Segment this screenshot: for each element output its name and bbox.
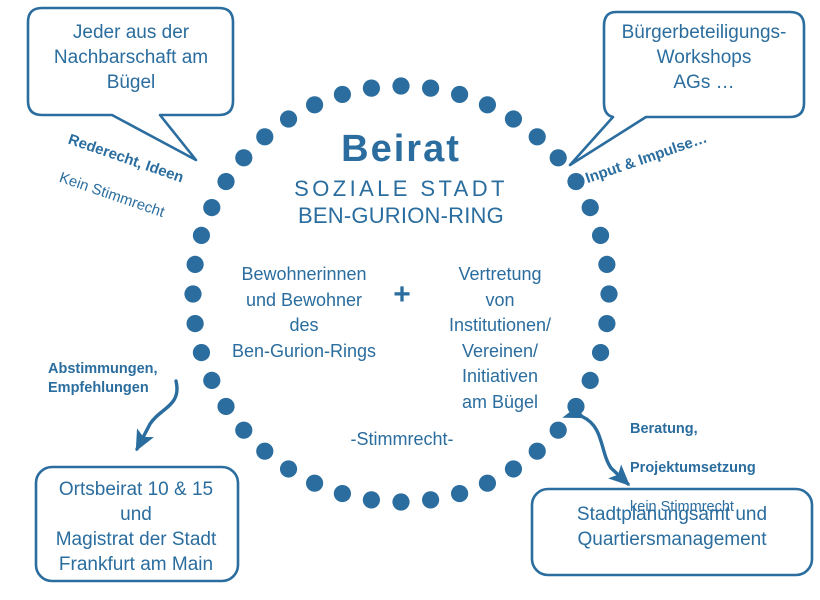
ring-dot [256, 443, 273, 460]
ring-dot [479, 96, 496, 113]
ring-dot [550, 149, 567, 166]
ring-dot [600, 285, 617, 302]
ring-dot [363, 80, 380, 97]
ring-dot [280, 460, 297, 477]
ring-dot [217, 398, 234, 415]
ring-dot [392, 493, 409, 510]
ring-dot [184, 285, 201, 302]
ring-dot [479, 475, 496, 492]
ring-dot [529, 443, 546, 460]
ring-dot [505, 460, 522, 477]
ring-dot [550, 422, 567, 439]
box-bottom-right-text: Stadtplanungsamt und Quartiersmanagement [538, 502, 806, 552]
ring-dot [306, 96, 323, 113]
arrow-label-abstimmungen: Abstimmungen, Empfehlungen [48, 360, 198, 399]
ring-dot [422, 491, 439, 508]
arrow-bidirectional-bottom-right [583, 417, 628, 484]
diagram-subtitle-ben-gurion-ring: BEN-GURION-RING [251, 203, 551, 230]
ring-dot [187, 256, 204, 273]
diagram-subtitle-soziale-stadt: SOZIALE STADT [251, 176, 551, 203]
ring-dot [451, 485, 468, 502]
ring-dot [306, 475, 323, 492]
diagram-canvas: Jeder aus der Nachbarschaft am Bügel Bür… [0, 0, 820, 600]
ring-dot [582, 199, 599, 216]
speech-bubble-top-right-text: Bürgerbeteiligungs- Workshops AGs … [606, 20, 802, 95]
ring-dot [203, 372, 220, 389]
ring-dot [392, 77, 409, 94]
center-column-institutions: Vertretung von Institutionen/ Vereinen/ … [412, 262, 588, 415]
diagram-title: Beirat [251, 126, 551, 172]
ring-dot [187, 315, 204, 332]
speech-bubble-top-left-text: Jeder aus der Nachbarschaft am Bügel [34, 20, 228, 95]
ring-dot [598, 315, 615, 332]
ring-dot [567, 173, 584, 190]
ring-dot [598, 256, 615, 273]
ring-dot [235, 149, 252, 166]
ring-dot [451, 86, 468, 103]
arrow-label-beratung-line2: Projektumsetzung [630, 459, 790, 478]
ring-dot [592, 227, 609, 244]
box-bottom-left-text: Ortsbeirat 10 & 15 und Magistrat der Sta… [40, 477, 232, 577]
ring-dot [193, 344, 210, 361]
center-footer-stimmrecht: -Stimmrecht- [300, 429, 504, 451]
ring-dot [363, 491, 380, 508]
arrow-label-beratung-line1: Beratung, [630, 420, 790, 439]
ring-dot [422, 80, 439, 97]
ring-dot [592, 344, 609, 361]
ring-dot [334, 485, 351, 502]
ring-dot [235, 422, 252, 439]
ring-dot [334, 86, 351, 103]
center-column-residents: Bewohnerinnen und Bewohner des Ben-Gurio… [216, 262, 392, 364]
